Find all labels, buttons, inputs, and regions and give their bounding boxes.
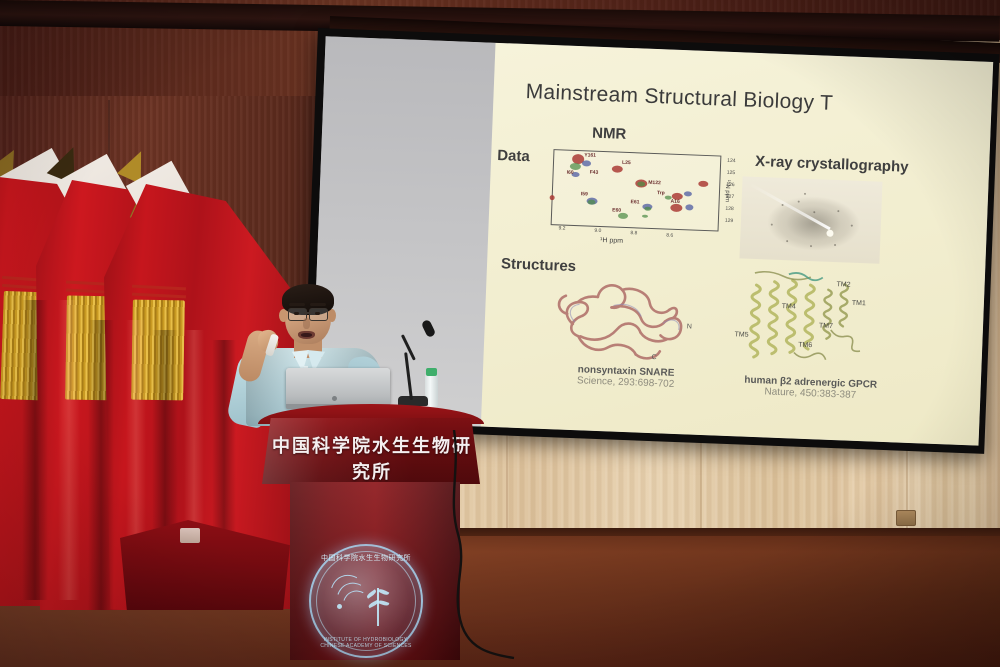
svg-text:TM1: TM1 bbox=[852, 300, 866, 308]
xray-beamstop bbox=[826, 230, 833, 237]
snare-structure-diagram: N C bbox=[535, 267, 709, 369]
nmr-y-tick: 125 bbox=[727, 170, 736, 176]
xray-diffraction-image bbox=[739, 176, 882, 263]
nmr-peak-label: M122 bbox=[648, 180, 661, 186]
emblem-english-text: INSTITUTE OF HYDROBIOLOGY, CHINESE ACADE… bbox=[311, 637, 421, 649]
nmr-x-tick: 8.8 bbox=[630, 230, 637, 236]
xray-beam-streak bbox=[749, 183, 831, 231]
svg-text:N: N bbox=[687, 323, 692, 330]
speaker-mouth-open bbox=[301, 333, 312, 337]
laptop-logo-icon bbox=[332, 396, 337, 401]
projection-screen-surface: Mainstream Structural Biology T NMR Data… bbox=[311, 36, 993, 445]
nmr-x-tick: 8.6 bbox=[666, 233, 673, 239]
nmr-y-tick: 128 bbox=[725, 206, 734, 212]
emblem-chinese-text: 中国科学院水生生物研究所 bbox=[311, 553, 421, 563]
power-cable bbox=[440, 430, 560, 660]
institute-emblem: 中国科学院水生生物研究所 INSTITUTE OF HYDROBIOLOGY, … bbox=[309, 544, 423, 658]
svg-text:TM5: TM5 bbox=[734, 331, 748, 339]
gpcr-structure-diagram: TM2 TM1 TM4 TM5 TM6 TM7 bbox=[733, 266, 887, 382]
presentation-slide: Mainstream Structural Biology T NMR Data… bbox=[481, 43, 993, 446]
wall-power-socket-icon bbox=[180, 528, 200, 543]
speaker-nose bbox=[303, 318, 310, 329]
svg-text:TM6: TM6 bbox=[798, 342, 812, 350]
laptop[interactable] bbox=[286, 368, 390, 408]
svg-text:C: C bbox=[651, 354, 656, 361]
water-bottle-cap[interactable] bbox=[426, 368, 437, 376]
slide-label-data: Data bbox=[497, 147, 530, 165]
slide-label-xray: X-ray crystallography bbox=[755, 153, 909, 176]
nmr-peak-label: E60 bbox=[612, 207, 621, 213]
nmr-y-axis-title: ¹⁵N ppm bbox=[724, 180, 731, 202]
nmr-peak-label: L25 bbox=[622, 160, 631, 166]
nmr-peak-label: Trp bbox=[657, 190, 665, 196]
nmr-peak-label: I60 bbox=[567, 170, 574, 176]
lecture-hall-photo: Mainstream Structural Biology T NMR Data… bbox=[0, 0, 1000, 667]
nmr-peak-label: I59 bbox=[581, 191, 588, 197]
nmr-y-tick: 129 bbox=[725, 218, 734, 224]
slide-title: Mainstream Structural Biology T bbox=[525, 80, 833, 116]
nmr-x-axis-title: ¹H ppm bbox=[600, 237, 623, 245]
emblem-dot bbox=[337, 604, 342, 609]
wall-outlet-icon bbox=[896, 510, 916, 526]
nmr-x-tick: 9.0 bbox=[594, 228, 601, 234]
nmr-y-tick: 124 bbox=[727, 158, 736, 164]
nmr-peak-label: A16 bbox=[670, 199, 679, 205]
nmr-spectrum-plot: Y161 L25 I60 F43 M122 Trp I59 E61 A16 E6… bbox=[551, 149, 722, 231]
svg-text:TM4: TM4 bbox=[782, 303, 796, 311]
svg-text:TM2: TM2 bbox=[836, 281, 850, 289]
nmr-peak-label: E61 bbox=[630, 199, 639, 205]
eyeglasses-bridge bbox=[304, 312, 311, 314]
svg-text:TM7: TM7 bbox=[819, 322, 833, 330]
emblem-plant-stem bbox=[377, 588, 379, 626]
slide-label-nmr: NMR bbox=[592, 125, 627, 143]
nmr-peak-label: F43 bbox=[590, 170, 599, 176]
nmr-peak-label: Y161 bbox=[584, 152, 596, 158]
projection-screen: Mainstream Structural Biology T NMR Data… bbox=[303, 28, 1000, 454]
nmr-x-tick: 9.2 bbox=[558, 225, 565, 231]
speaker-ear-right bbox=[328, 309, 336, 322]
